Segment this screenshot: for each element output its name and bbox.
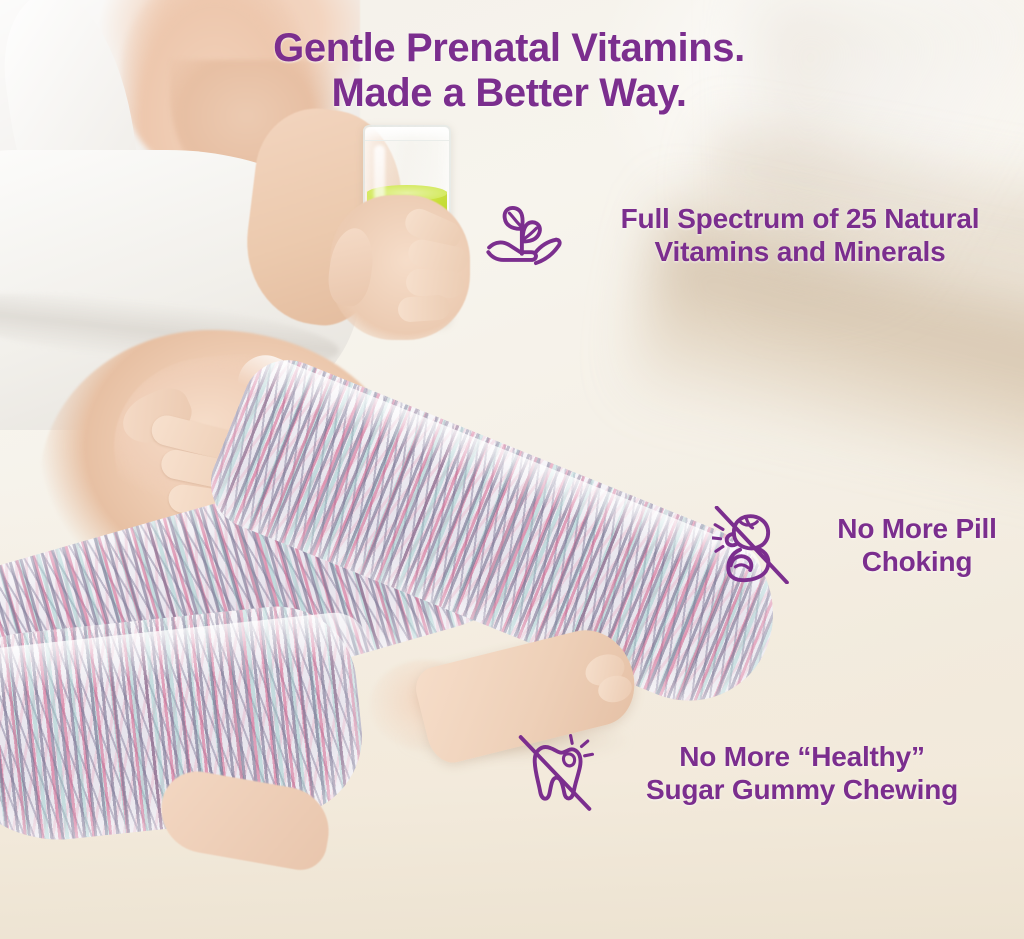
tooth-decay-icon bbox=[516, 734, 594, 812]
glass-rim bbox=[365, 127, 449, 141]
feature-no-pill-choking: No More Pill Choking bbox=[712, 506, 1024, 584]
product-banner: Gentle Prenatal Vitamins. Made a Better … bbox=[0, 0, 1024, 939]
feature-2-line-2: Choking bbox=[808, 545, 1024, 578]
feature-no-sugar-gummies-text: No More “Healthy” Sugar Gummy Chewing bbox=[612, 740, 992, 806]
headline-line-2: Made a Better Way. bbox=[0, 71, 1018, 116]
headline-line-1: Gentle Prenatal Vitamins. bbox=[0, 26, 1018, 71]
feature-full-spectrum: Full Spectrum of 25 Natural Vitamins and… bbox=[486, 196, 1018, 274]
person-choking-icon bbox=[712, 506, 790, 584]
feature-2-line-1: No More Pill bbox=[808, 512, 1024, 545]
feature-1-line-1: Full Spectrum of 25 Natural bbox=[582, 202, 1018, 235]
feature-3-line-2: Sugar Gummy Chewing bbox=[612, 773, 992, 806]
feature-3-line-1: No More “Healthy” bbox=[612, 740, 992, 773]
glass-finger bbox=[397, 294, 451, 323]
headline: Gentle Prenatal Vitamins. Made a Better … bbox=[0, 26, 1024, 116]
feature-1-line-2: Vitamins and Minerals bbox=[582, 235, 1018, 268]
feature-full-spectrum-text: Full Spectrum of 25 Natural Vitamins and… bbox=[582, 202, 1018, 268]
hand-holding-sprout-icon bbox=[486, 196, 564, 274]
feature-no-pill-choking-text: No More Pill Choking bbox=[808, 512, 1024, 578]
feature-no-sugar-gummies: No More “Healthy” Sugar Gummy Chewing bbox=[516, 734, 992, 812]
